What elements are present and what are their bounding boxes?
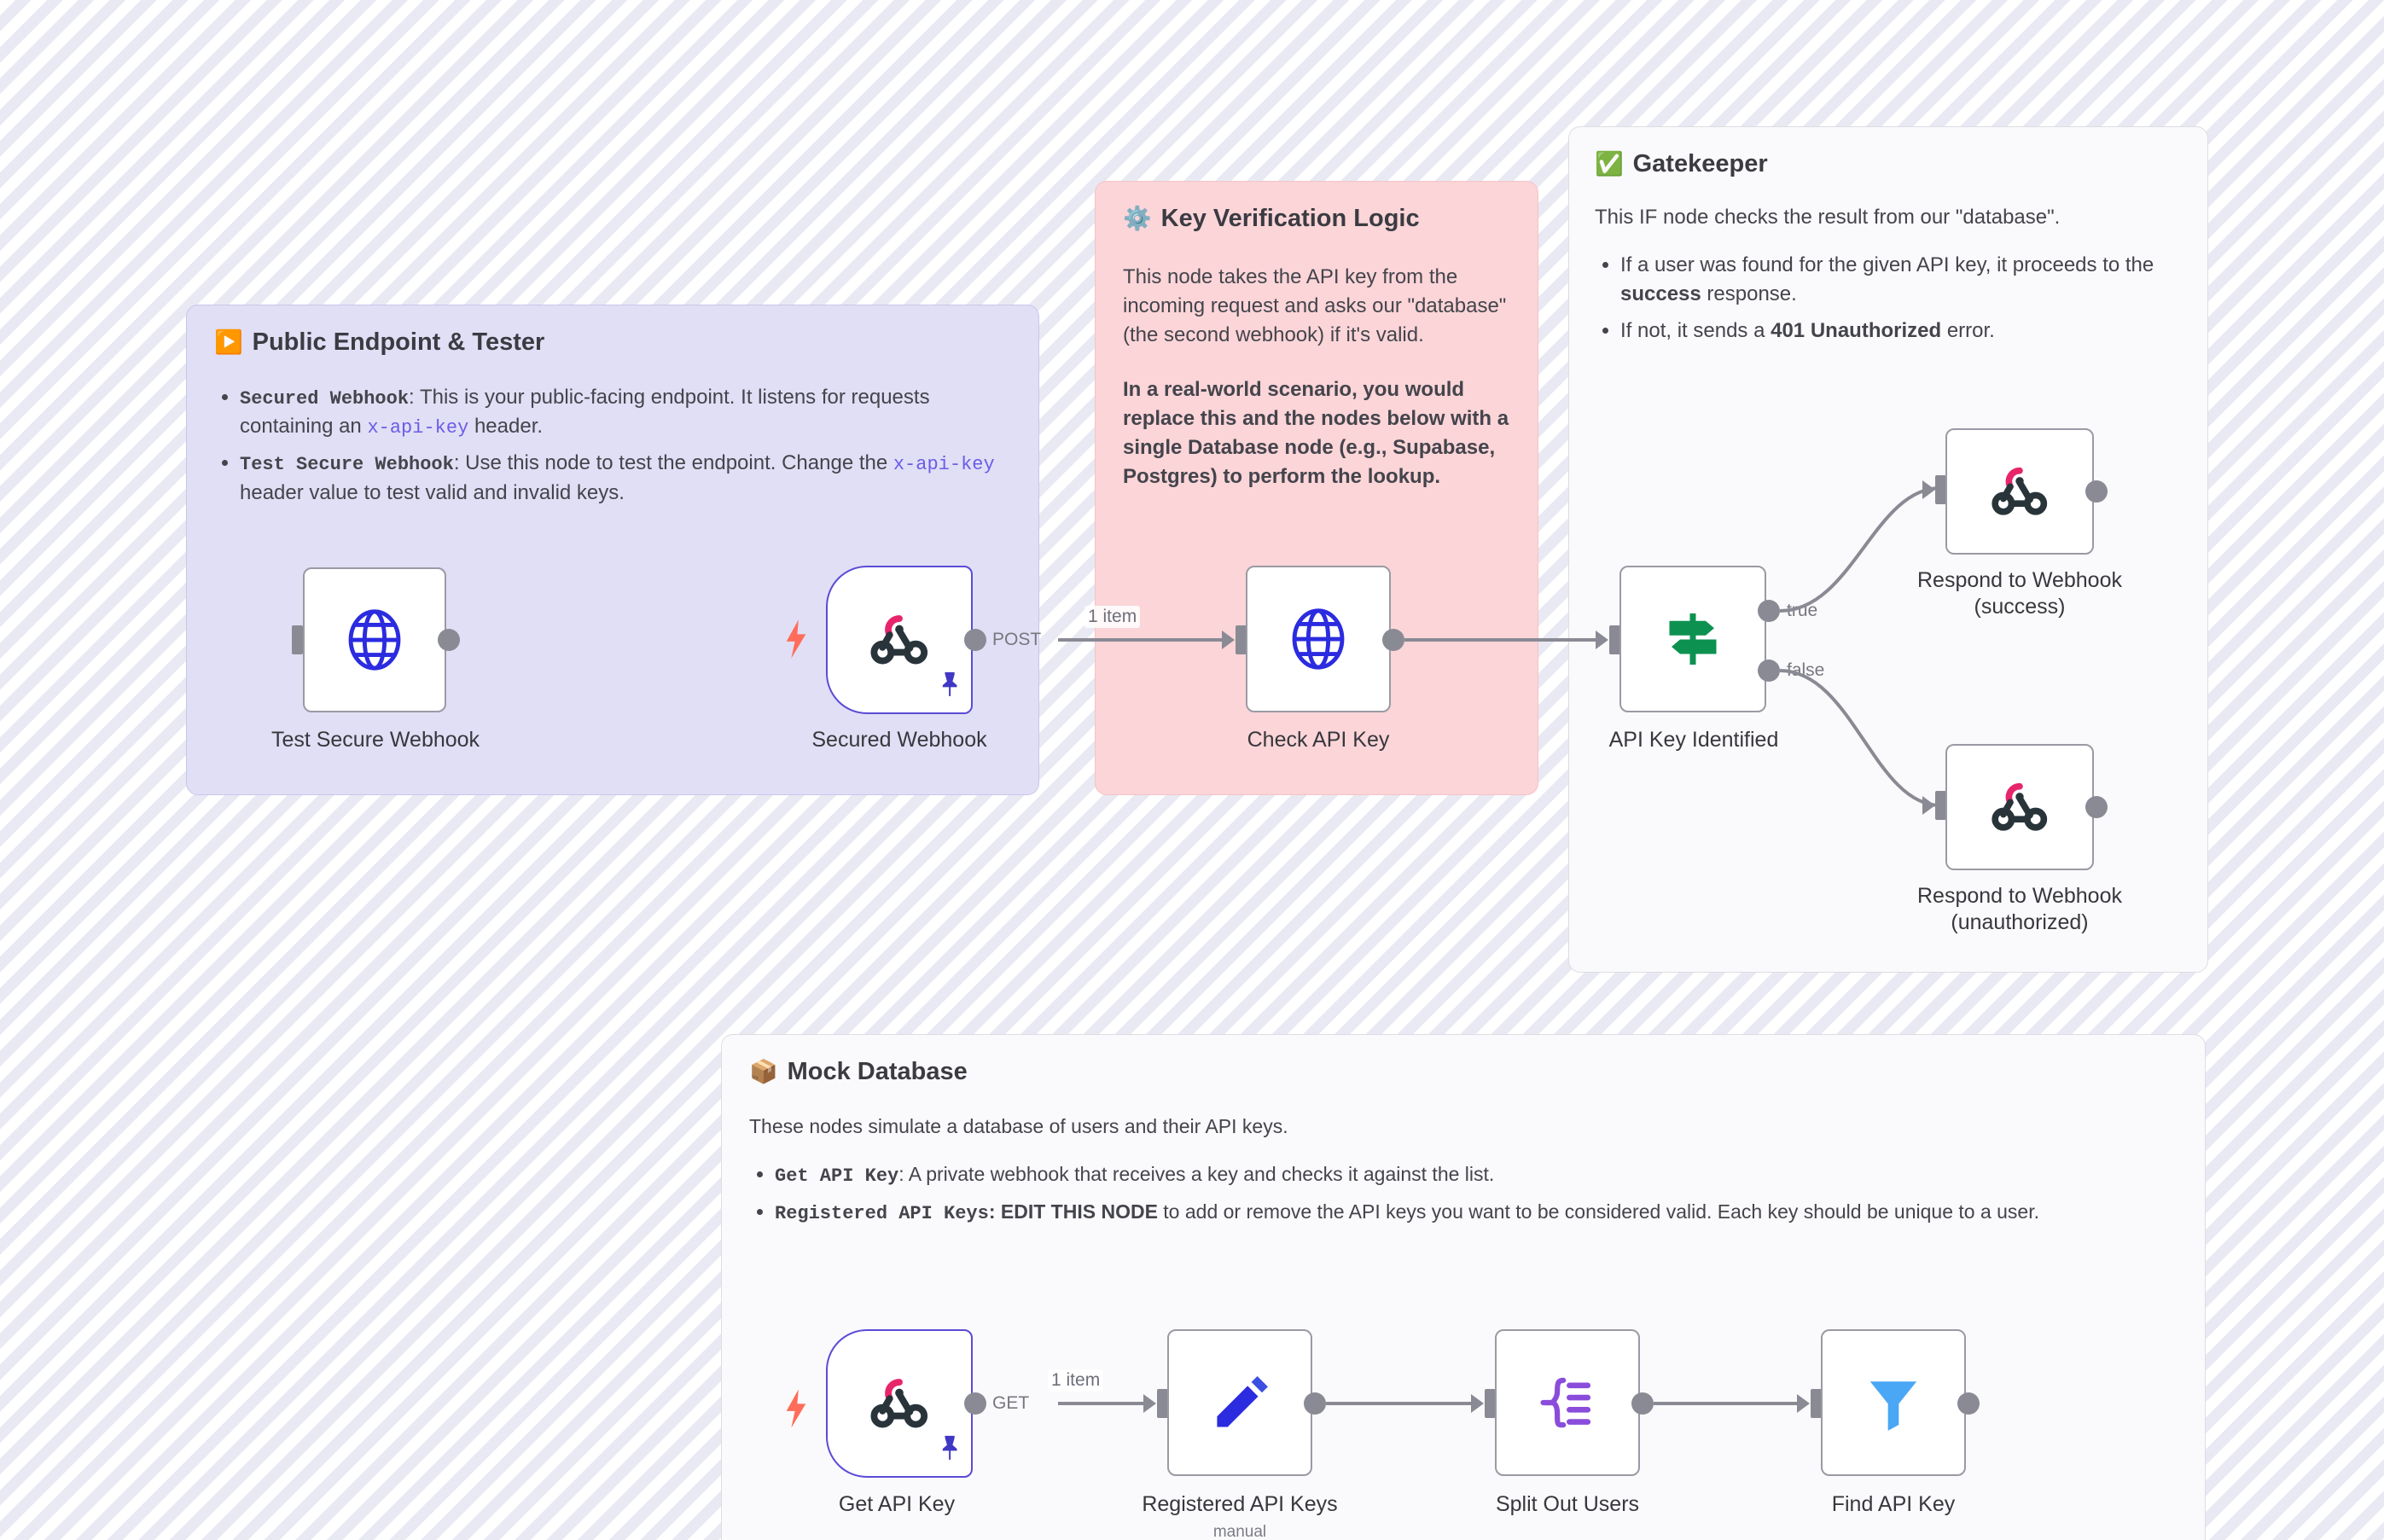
bullet-code: Get API Key: [775, 1165, 898, 1187]
bullet-bold: : EDIT THIS NODE: [989, 1200, 1158, 1223]
sticky-note-title-text: Public Endpoint & Tester: [253, 328, 545, 357]
play-button-emoji: ▶️: [214, 331, 243, 354]
pin-icon-get-api-key: [939, 1433, 961, 1462]
node-label-find-api-key: Find API Key: [1753, 1491, 2034, 1518]
bullet-text-1: : Use this node to test the endpoint. Ch…: [454, 451, 893, 474]
sticky-note-body: These nodes simulate a database of users…: [749, 1113, 2178, 1227]
port-out-api-key-identified-false[interactable]: [1758, 660, 1780, 682]
sticky-note-title: ▶️ Public Endpoint & Tester: [214, 328, 1011, 357]
sticky-note-title-text: Gatekeeper: [1633, 149, 1768, 179]
node-label-respond-to-webhook-success: Respond to Webhook (success): [1879, 567, 2160, 619]
bullet-text-2: response.: [1701, 282, 1797, 305]
signpost-icon: [1659, 605, 1727, 673]
list-item: If not, it sends a 401 Unauthorized erro…: [1620, 317, 2182, 346]
connector-get-to-registered[interactable]: [1058, 1402, 1143, 1405]
note-bold-paragraph: In a real-world scenario, you would repl…: [1123, 375, 1510, 491]
port-out-secured-webhook[interactable]: [964, 629, 986, 651]
arrow-head-respond-unauthorized: [1922, 796, 1935, 815]
node-label-respond-to-webhook-unauthorized: Respond to Webhook (unauthorized): [1879, 883, 2160, 935]
list-item: Get API Key: A private webhook that rece…: [775, 1160, 2178, 1189]
node-split-out-users[interactable]: [1495, 1329, 1640, 1476]
filter-funnel-icon: [1861, 1370, 1926, 1435]
bullet-text-2: error.: [1941, 319, 1995, 342]
connector-registered-to-split[interactable]: [1326, 1402, 1471, 1405]
connector-split-to-find[interactable]: [1654, 1402, 1797, 1405]
port-in-test-secure-webhook[interactable]: [292, 625, 303, 654]
webhook-icon: [1989, 776, 2050, 838]
port-out-find-api-key[interactable]: [1957, 1392, 1980, 1415]
globe-icon: [341, 607, 408, 673]
arrow-head-split-out-users: [1471, 1394, 1484, 1413]
sticky-note-title: ⚙️ Key Verification Logic: [1123, 204, 1510, 234]
note-paragraph: This IF node checks the result from our …: [1595, 203, 2182, 232]
arrow-head-registered-api-keys: [1143, 1394, 1156, 1413]
port-out-respond-unauthorized[interactable]: [2085, 796, 2108, 818]
node-find-api-key[interactable]: [1821, 1329, 1966, 1476]
inline-code: x-api-key: [893, 454, 995, 475]
node-label-split-out-users: Split Out Users: [1427, 1491, 1708, 1518]
port-out-check-api-key[interactable]: [1382, 629, 1404, 651]
workflow-canvas[interactable]: ▶️ Public Endpoint & Tester Secured Webh…: [0, 0, 2384, 1540]
sticky-note-public-endpoint[interactable]: ▶️ Public Endpoint & Tester Secured Webh…: [186, 305, 1039, 795]
node-registered-api-keys[interactable]: [1167, 1329, 1312, 1476]
note-paragraph: These nodes simulate a database of users…: [749, 1113, 2178, 1141]
node-test-secure-webhook[interactable]: [303, 567, 446, 712]
node-label-secured-webhook: Secured Webhook: [759, 727, 1040, 753]
bullet-text-1: If a user was found for the given API ke…: [1620, 253, 2154, 276]
bullet-bold: 401 Unauthorized: [1771, 319, 1941, 342]
pin-icon-secured-webhook: [939, 670, 961, 699]
sticky-note-title: ✅ Gatekeeper: [1595, 149, 2182, 179]
bullet-term: Test Secure Webhook: [240, 454, 454, 475]
sticky-note-title-text: Mock Database: [788, 1057, 968, 1087]
inline-code: x-api-key: [367, 417, 468, 439]
node-respond-to-webhook-unauthorized[interactable]: [1945, 744, 2094, 870]
check-mark-button-emoji: ✅: [1595, 153, 1624, 176]
globe-icon: [1285, 606, 1352, 672]
port-out-split-out-users[interactable]: [1631, 1392, 1654, 1415]
bullet-text-2: header.: [468, 415, 543, 438]
sticky-note-body: Secured Webhook: This is your public-fac…: [214, 383, 1011, 508]
arrow-head-check-api-key: [1222, 631, 1235, 649]
connector-check-to-if[interactable]: [1404, 638, 1596, 642]
webhook-icon: [868, 608, 931, 671]
sticky-note-title: 📦 Mock Database: [749, 1057, 2178, 1087]
port-out-test-secure-webhook[interactable]: [438, 629, 460, 651]
bullet-text-2: header value to test valid and invalid k…: [240, 481, 625, 504]
port-out-get-api-key[interactable]: [964, 1392, 986, 1415]
node-respond-to-webhook-success[interactable]: [1945, 428, 2094, 555]
list-item: Registered API Keys: EDIT THIS NODE to a…: [775, 1198, 2178, 1227]
port-out-respond-success[interactable]: [2085, 480, 2108, 503]
node-api-key-identified[interactable]: [1619, 566, 1766, 712]
gear-emoji: ⚙️: [1123, 207, 1152, 230]
split-out-icon: [1535, 1370, 1600, 1435]
list-item: Test Secure Webhook: Use this node to te…: [240, 449, 1011, 507]
sticky-note-body: This IF node checks the result from our …: [1595, 203, 2182, 346]
sticky-note-body: This node takes the API key from the inc…: [1123, 263, 1510, 492]
bullet-code: Registered API Keys: [775, 1203, 989, 1224]
port-out-api-key-identified-true[interactable]: [1758, 600, 1780, 622]
connector-item-count-label: 1 item: [1048, 1369, 1103, 1392]
trigger-bolt-icon-secured-webhook: [782, 619, 811, 659]
package-emoji: 📦: [749, 1061, 778, 1084]
bullet-text: : A private webhook that receives a key …: [898, 1163, 1494, 1185]
pencil-icon: [1207, 1370, 1272, 1435]
node-sublabel-registered-api-keys: manual: [1099, 1523, 1381, 1540]
webhook-icon: [1989, 461, 2050, 522]
bullet-term: Secured Webhook: [240, 388, 409, 410]
connector-secured-to-check[interactable]: [1058, 638, 1222, 642]
node-label-check-api-key: Check API Key: [1177, 727, 1459, 753]
trigger-bolt-icon-get-api-key: [782, 1389, 811, 1428]
node-label-test-secure-webhook: Test Secure Webhook: [235, 727, 516, 753]
node-check-api-key[interactable]: [1246, 566, 1391, 712]
port-out-registered-api-keys[interactable]: [1304, 1392, 1326, 1415]
bullet-bold: success: [1620, 282, 1701, 305]
bullet-text: to add or remove the API keys you want t…: [1158, 1200, 2039, 1223]
list-item: Secured Webhook: This is your public-fac…: [240, 383, 1011, 441]
arrow-head-api-key-identified: [1596, 631, 1608, 649]
list-item: If a user was found for the given API ke…: [1620, 251, 2182, 309]
connection-method-label-post: POST: [992, 630, 1041, 650]
bullet-text-1: If not, it sends a: [1620, 319, 1771, 342]
note-paragraph: This node takes the API key from the inc…: [1123, 263, 1510, 350]
sticky-note-title-text: Key Verification Logic: [1161, 204, 1420, 234]
arrow-head-respond-success: [1922, 480, 1935, 499]
node-label-get-api-key: Get API Key: [773, 1491, 1020, 1518]
webhook-icon: [868, 1372, 931, 1435]
arrow-head-find-api-key: [1797, 1394, 1810, 1413]
connector-item-count-label: 1 item: [1084, 606, 1140, 628]
node-label-registered-api-keys: Registered API Keys: [1099, 1491, 1381, 1518]
connection-method-label-get: GET: [992, 1393, 1029, 1414]
